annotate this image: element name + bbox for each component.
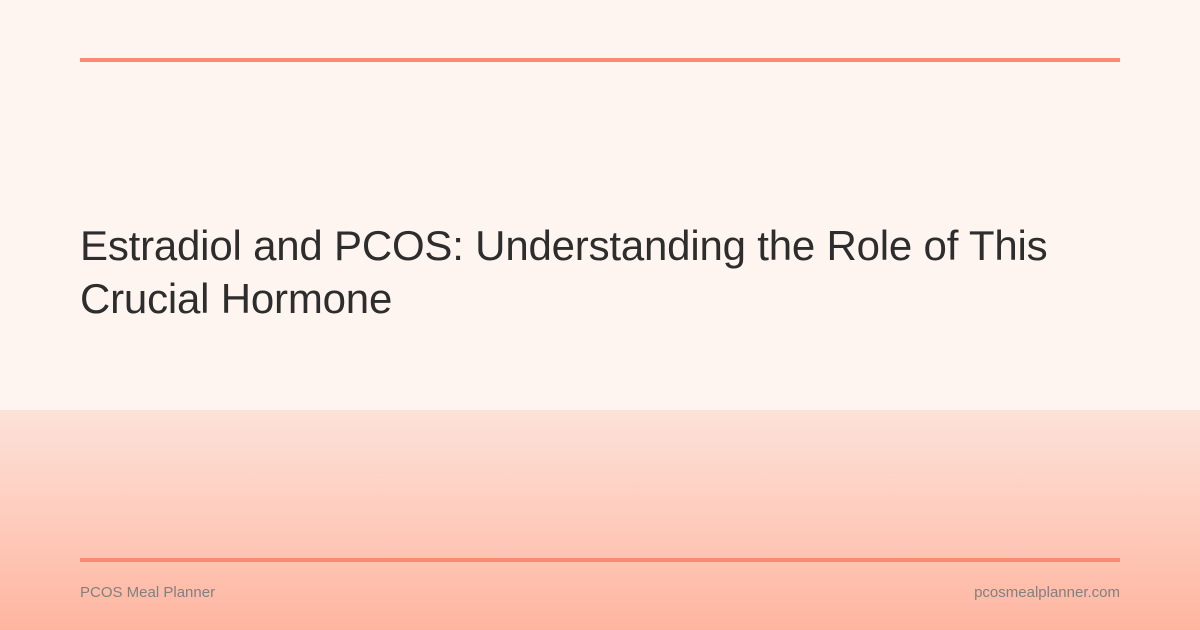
top-accent-rule (80, 58, 1120, 62)
bottom-accent-rule (80, 558, 1120, 562)
social-share-card: Estradiol and PCOS: Understanding the Ro… (0, 0, 1200, 630)
brand-name: PCOS Meal Planner (80, 584, 215, 601)
card-footer: PCOS Meal Planner pcosmealplanner.com (80, 580, 1120, 604)
page-title: Estradiol and PCOS: Understanding the Ro… (80, 219, 1060, 325)
site-url: pcosmealplanner.com (974, 584, 1120, 601)
